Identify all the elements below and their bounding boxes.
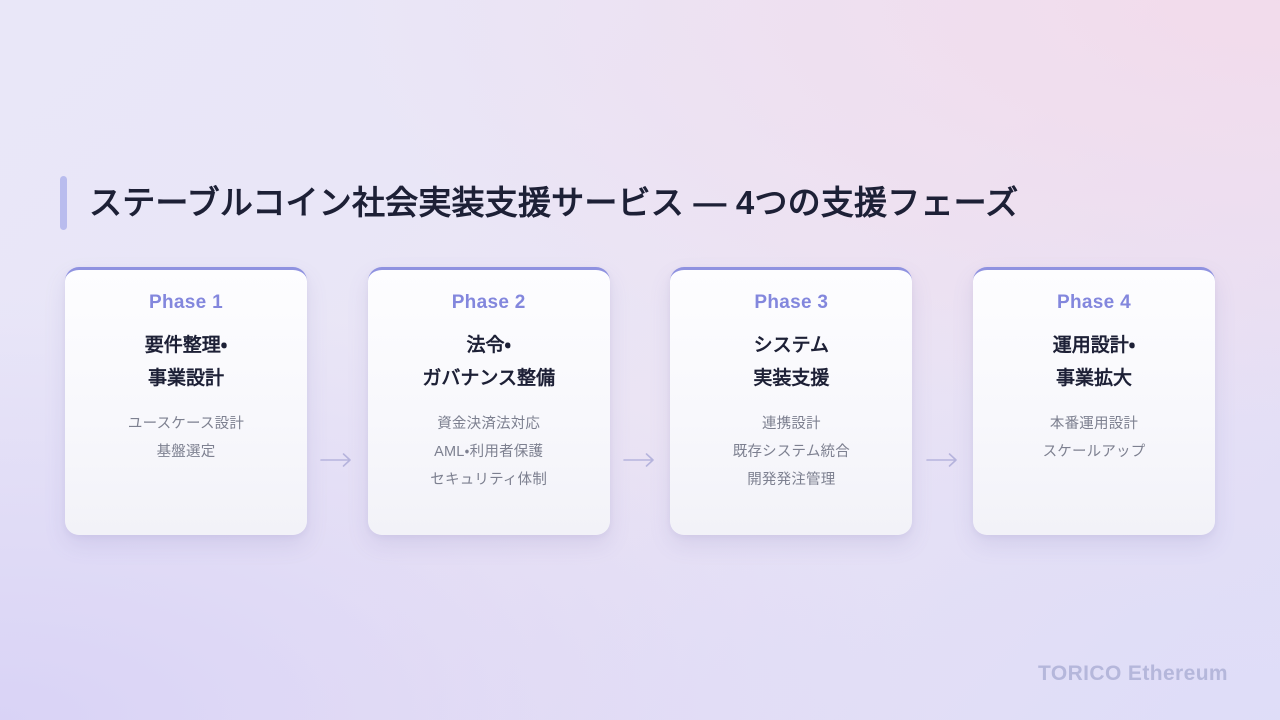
phase-title-line-2: 実装支援 [684,363,898,396]
phase-title-line-2: 事業拡大 [987,363,1201,396]
phase-title: システム 実装支援 [684,330,898,395]
phase-item-list: 連携設計 既存システム統合 開発発注管理 [684,411,898,495]
title-accent-bar [60,176,67,230]
phase-flow: Phase 1 要件整理・ 事業設計 ユースケース設計 基盤選定 Phase 2… [65,267,1215,535]
page-title: ステーブルコイン社会実装支援サービス — 4つの支援フェーズ [60,176,1018,230]
phase-label: Phase 1 [79,292,293,314]
phase-card-2[interactable]: Phase 2 法令・ ガバナンス整備 資金決済法対応 AML・利用者保護 セキ… [368,267,610,535]
list-item: ユースケース設計 [79,411,293,439]
phase-title-line-1: システム [684,330,898,363]
phase-title-line-1: 要件整理・ [79,330,293,363]
list-item: 開発発注管理 [684,467,898,495]
phase-label: Phase 2 [382,292,596,314]
phase-item-list: ユースケース設計 基盤選定 [79,411,293,467]
phase-title-line-2: ガバナンス整備 [382,363,596,396]
phase-title-line-2: 事業設計 [79,363,293,396]
phase-card-3[interactable]: Phase 3 システム 実装支援 連携設計 既存システム統合 開発発注管理 [670,267,912,535]
phase-title-line-1: 運用設計・ [987,330,1201,363]
phase-title: 運用設計・ 事業拡大 [987,330,1201,395]
phase-title: 要件整理・ 事業設計 [79,330,293,395]
phase-label: Phase 4 [987,292,1201,314]
phase-item-list: 本番運用設計 スケールアップ [987,411,1201,467]
list-item: 本番運用設計 [987,411,1201,439]
arrow-right-icon [912,267,973,535]
phase-item-list: 資金決済法対応 AML・利用者保護 セキュリティ体制 [382,411,596,495]
slide-root: ステーブルコイン社会実装支援サービス — 4つの支援フェーズ Phase 1 要… [0,0,1280,720]
phase-title: 法令・ ガバナンス整備 [382,330,596,395]
list-item: AML・利用者保護 [382,439,596,467]
phase-title-line-1: 法令・ [382,330,596,363]
page-title-text: ステーブルコイン社会実装支援サービス — 4つの支援フェーズ [89,183,1018,223]
list-item: 基盤選定 [79,439,293,467]
list-item: スケールアップ [987,439,1201,467]
list-item: 連携設計 [684,411,898,439]
footer-brand: TORICO Ethereum [1038,662,1228,686]
phase-card-1[interactable]: Phase 1 要件整理・ 事業設計 ユースケース設計 基盤選定 [65,267,307,535]
arrow-right-icon [307,267,368,535]
arrow-right-icon [610,267,671,535]
list-item: セキュリティ体制 [382,467,596,495]
phase-card-4[interactable]: Phase 4 運用設計・ 事業拡大 本番運用設計 スケールアップ [973,267,1215,535]
phase-label: Phase 3 [684,292,898,314]
list-item: 資金決済法対応 [382,411,596,439]
list-item: 既存システム統合 [684,439,898,467]
